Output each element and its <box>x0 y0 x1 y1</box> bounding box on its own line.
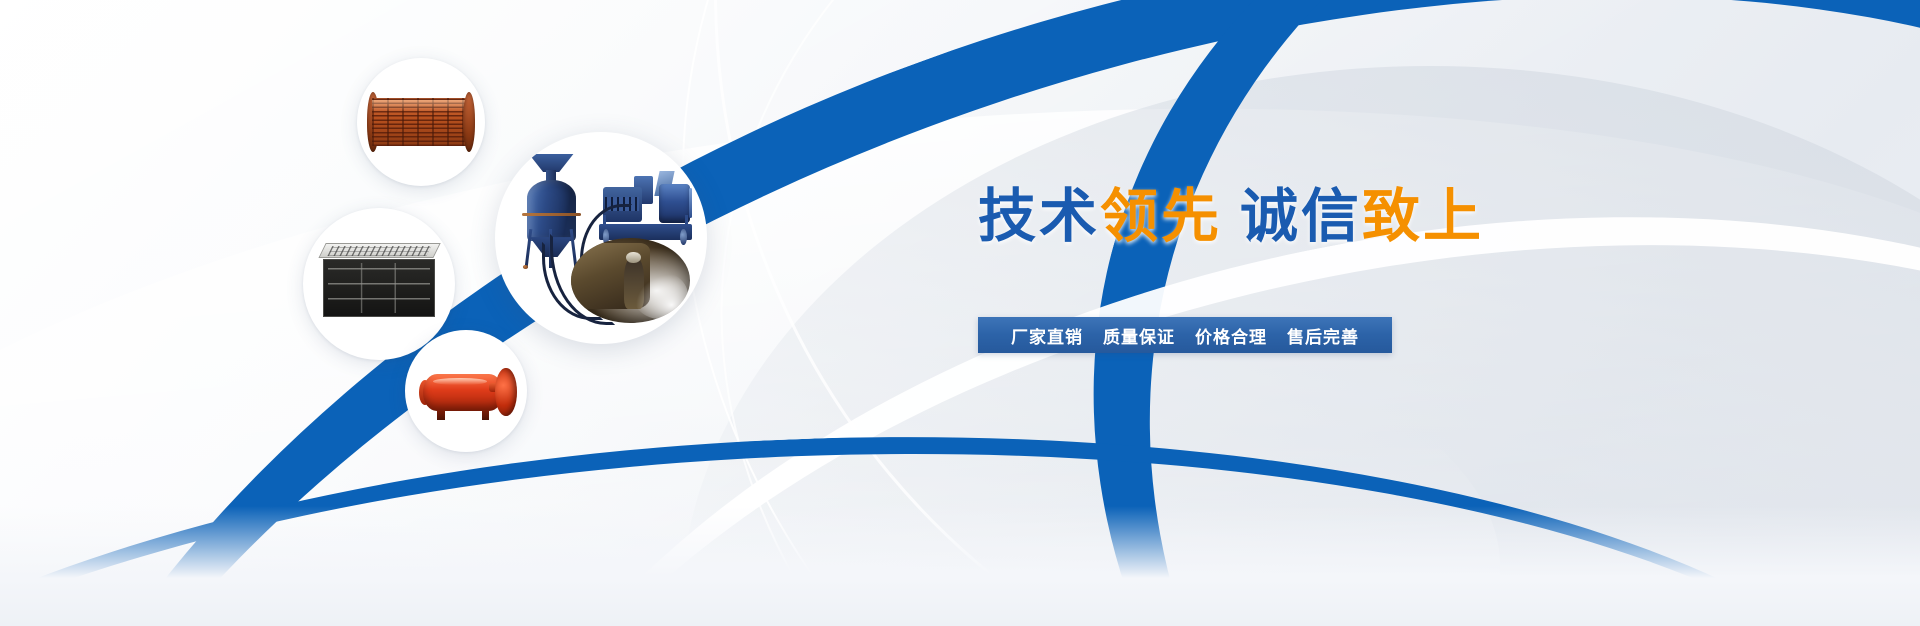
tube-sheet-hole-pattern <box>327 246 431 256</box>
headline-part-3: 诚信 <box>1240 184 1362 249</box>
feature-item-1: 质量保证 <box>1103 323 1175 348</box>
tube-sheet-top-plate <box>318 243 440 258</box>
pump-unit <box>599 179 692 240</box>
vessel-flange-head <box>495 368 516 416</box>
tube-bundle-body <box>372 98 469 147</box>
pressure-vessel-illustration <box>405 330 527 452</box>
tube-bundle-highlight <box>372 100 469 113</box>
product-circle-tube-bundle[interactable] <box>357 58 485 186</box>
feature-item-0: 厂家直销 <box>1011 323 1083 348</box>
tube-bundle-end-cap-right <box>463 92 476 151</box>
tank-pipe <box>522 213 581 216</box>
feature-list: 厂家直销 质量保证 价格合理 售后完善 <box>1011 323 1359 348</box>
vessel-foot-left <box>437 410 445 420</box>
pump-wheel-right <box>680 229 687 245</box>
pump-frame <box>599 224 692 240</box>
tube-bundle-illustration <box>357 58 485 186</box>
product-circle-cleaning-system[interactable] <box>495 132 707 344</box>
feature-item-2: 价格合理 <box>1195 323 1267 348</box>
banner-feature-bar: 厂家直销 质量保证 价格合理 售后完善 <box>978 317 1392 353</box>
cleaning-system-illustration <box>495 132 707 344</box>
headline-part-2: 领先 <box>1100 184 1222 249</box>
tank-legs <box>524 229 579 268</box>
tube-sheet-front-face <box>323 259 435 318</box>
cleaning-operation-photo <box>571 238 690 323</box>
bottom-fade <box>0 506 1920 626</box>
vessel-highlight <box>433 378 487 385</box>
sandblast-tank <box>527 166 576 268</box>
banner-headline: 技术领先诚信致上 <box>978 188 1484 246</box>
tube-sheet-compartments <box>328 263 430 313</box>
tank-wheel-left <box>523 265 528 268</box>
promo-banner: 技术领先诚信致上 厂家直销 质量保证 价格合理 售后完善 <box>0 0 1920 626</box>
vessel-foot-right <box>482 410 490 420</box>
headline-part-1: 技术 <box>978 184 1100 249</box>
product-circle-pressure-vessel[interactable] <box>405 330 527 452</box>
headline-part-4: 致上 <box>1362 184 1484 249</box>
vessel-shell <box>423 374 503 411</box>
photo-spray-mist <box>633 272 688 319</box>
feature-item-3: 售后完善 <box>1287 323 1359 348</box>
